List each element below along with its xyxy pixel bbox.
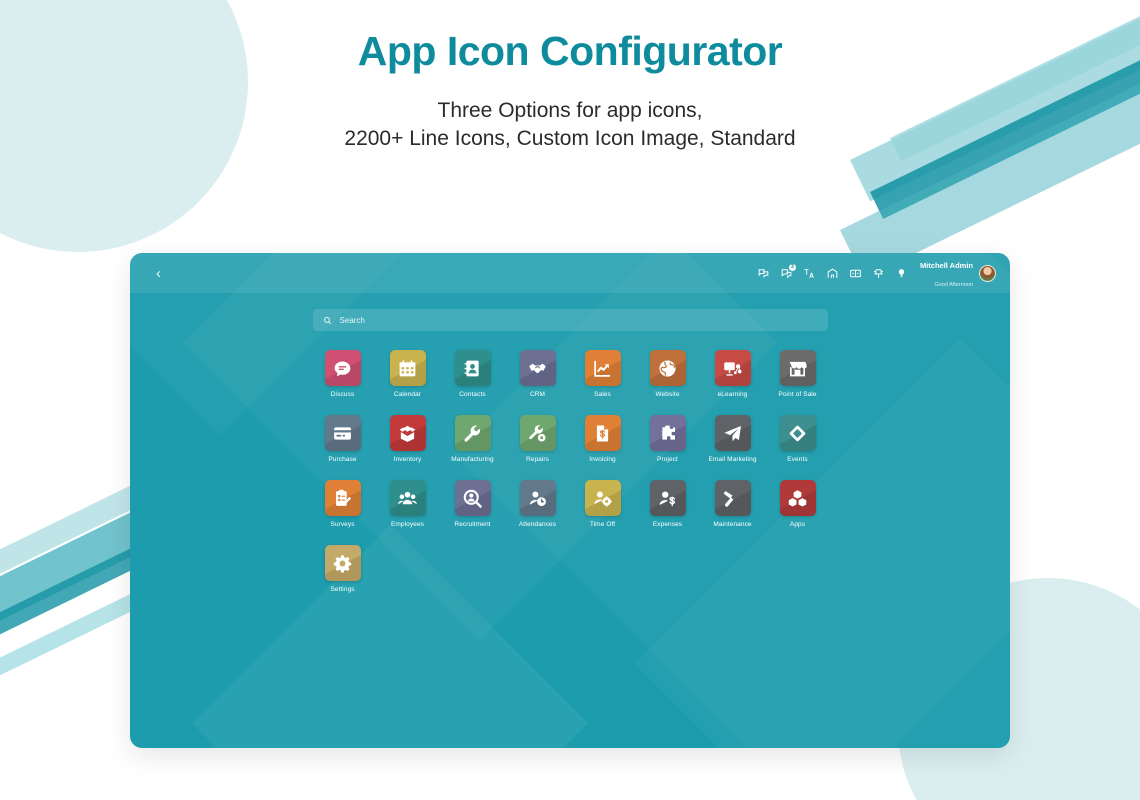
app-label: Recruitment: [454, 521, 490, 528]
back-button[interactable]: ‹: [156, 266, 161, 281]
app-item-attendances[interactable]: Attendances: [505, 480, 570, 528]
app-item-invoicing[interactable]: Invoicing: [570, 415, 635, 463]
app-item-sales[interactable]: Sales: [570, 350, 635, 398]
open-box-icon: [397, 423, 418, 444]
app-item-time-off[interactable]: Time Off: [570, 480, 635, 528]
credit-card-icon: [332, 423, 353, 444]
search-placeholder: Search: [340, 316, 365, 325]
app-item-website[interactable]: Website: [635, 350, 700, 398]
app-label: Calendar: [394, 391, 421, 398]
app-label: Settings: [330, 586, 354, 593]
app-label: eLearning: [718, 391, 748, 398]
handshake-icon: [527, 358, 548, 379]
app-grid: DiscussCalendarContactsCRMSalesWebsiteeL…: [310, 350, 830, 593]
app-item-expenses[interactable]: Expenses: [635, 480, 700, 528]
app-label: Repairs: [526, 456, 549, 463]
app-item-manufacturing[interactable]: Manufacturing: [440, 415, 505, 463]
activities-icon[interactable]: 3: [780, 267, 793, 280]
app-item-contacts[interactable]: Contacts: [440, 350, 505, 398]
app-item-calendar[interactable]: Calendar: [375, 350, 440, 398]
page-subtitle-line-2: 2200+ Line Icons, Custom Icon Image, Sta…: [0, 125, 1140, 153]
app-window: ‹ 3: [130, 253, 1010, 748]
app-tile[interactable]: [520, 350, 556, 386]
app-tile[interactable]: [390, 415, 426, 451]
app-tile[interactable]: [325, 480, 361, 516]
app-tile[interactable]: [520, 415, 556, 451]
app-item-events[interactable]: Events: [765, 415, 830, 463]
app-label: Time Off: [590, 521, 615, 528]
app-item-project[interactable]: Project: [635, 415, 700, 463]
page-subtitle-line-1: Three Options for app icons,: [0, 97, 1140, 125]
app-label: Discuss: [331, 391, 354, 398]
app-tile[interactable]: [325, 415, 361, 451]
tips-icon[interactable]: [895, 267, 908, 280]
app-item-settings[interactable]: Settings: [310, 545, 375, 593]
user-text: Mitchell Admin Good Afternoon: [920, 255, 973, 292]
apps-grid-icon[interactable]: [849, 267, 862, 280]
contact-card-icon: [462, 358, 483, 379]
app-tile[interactable]: [455, 415, 491, 451]
app-label: Project: [657, 456, 678, 463]
person-clock-icon: [527, 488, 548, 509]
app-item-elearning[interactable]: eLearning: [700, 350, 765, 398]
app-label: Contacts: [459, 391, 485, 398]
app-label: Surveys: [330, 521, 354, 528]
app-label: Email Marketing: [708, 456, 756, 463]
app-label: Inventory: [394, 456, 422, 463]
app-item-repairs[interactable]: Repairs: [505, 415, 570, 463]
user-name: Mitchell Admin: [920, 261, 973, 270]
puzzle-icon: [657, 423, 678, 444]
systray: 3: [757, 267, 908, 280]
app-label: CRM: [530, 391, 545, 398]
messages-icon[interactable]: [757, 267, 770, 280]
app-tile[interactable]: [455, 480, 491, 516]
app-item-maintenance[interactable]: Maintenance: [700, 480, 765, 528]
app-grid-wrap: DiscussCalendarContactsCRMSalesWebsiteeL…: [130, 331, 1010, 593]
app-label: Apps: [790, 521, 805, 528]
search-row: Search: [130, 293, 1010, 331]
wrench-gear-icon: [527, 423, 548, 444]
app-tile[interactable]: [390, 350, 426, 386]
app-item-email-marketing[interactable]: Email Marketing: [700, 415, 765, 463]
app-label: Manufacturing: [451, 456, 494, 463]
app-label: Sales: [594, 391, 611, 398]
app-label: Attendances: [519, 521, 556, 528]
app-item-crm[interactable]: CRM: [505, 350, 570, 398]
user-menu[interactable]: Mitchell Admin Good Afternoon: [920, 255, 996, 292]
app-label: Website: [655, 391, 679, 398]
app-tile[interactable]: [715, 480, 751, 516]
app-item-employees[interactable]: Employees: [375, 480, 440, 528]
app-label: Maintenance: [713, 521, 751, 528]
user-greeting: Good Afternoon: [934, 282, 973, 288]
app-label: Invoicing: [589, 456, 616, 463]
cubes-icon: [787, 488, 808, 509]
app-item-discuss[interactable]: Discuss: [310, 350, 375, 398]
invoice-dollar-icon: [592, 423, 613, 444]
headline-block: App Icon Configurator Three Options for …: [0, 28, 1140, 153]
app-tile[interactable]: [780, 350, 816, 386]
person-gear-icon: [592, 488, 613, 509]
app-item-point-of-sale[interactable]: Point of Sale: [765, 350, 830, 398]
page-subtitle: Three Options for app icons, 2200+ Line …: [0, 97, 1140, 153]
page-title: App Icon Configurator: [0, 28, 1140, 75]
company-icon[interactable]: [826, 267, 839, 280]
search-icon: [323, 316, 332, 325]
chart-up-icon: [592, 358, 613, 379]
app-tile[interactable]: [715, 415, 751, 451]
clipboard-pen-icon: [332, 488, 353, 509]
activities-badge: 3: [789, 264, 796, 271]
app-label: Employees: [391, 521, 424, 528]
app-label: Point of Sale: [778, 391, 816, 398]
app-tile[interactable]: [650, 350, 686, 386]
gear-icon: [332, 553, 353, 574]
app-label: Events: [787, 456, 807, 463]
app-item-purchase[interactable]: Purchase: [310, 415, 375, 463]
app-item-apps[interactable]: Apps: [765, 480, 830, 528]
hammer-icon: [722, 488, 743, 509]
app-item-recruitment[interactable]: Recruitment: [440, 480, 505, 528]
app-tile[interactable]: [715, 350, 751, 386]
ticket-diamond-icon: [787, 423, 808, 444]
window-topbar: ‹ 3: [130, 253, 1010, 293]
app-item-surveys[interactable]: Surveys: [310, 480, 375, 528]
search-input[interactable]: Search: [313, 309, 828, 331]
presentation-icon: [722, 358, 743, 379]
chat-bubble-icon: [332, 358, 353, 379]
app-tile[interactable]: [325, 545, 361, 581]
app-tile[interactable]: [520, 480, 556, 516]
storefront-icon: [787, 358, 808, 379]
globe-icon: [657, 358, 678, 379]
app-tile[interactable]: [585, 480, 621, 516]
app-tile[interactable]: [455, 350, 491, 386]
avatar[interactable]: [979, 265, 996, 282]
app-label: Purchase: [328, 456, 356, 463]
app-tile[interactable]: [650, 415, 686, 451]
translate-icon[interactable]: [803, 267, 816, 280]
app-tile[interactable]: [780, 415, 816, 451]
app-tile[interactable]: [585, 350, 621, 386]
debug-icon[interactable]: [872, 267, 885, 280]
app-item-inventory[interactable]: Inventory: [375, 415, 440, 463]
paper-plane-icon: [722, 423, 743, 444]
magnifier-user-icon: [462, 488, 483, 509]
wrench-icon: [462, 423, 483, 444]
app-tile[interactable]: [390, 480, 426, 516]
app-tile[interactable]: [780, 480, 816, 516]
app-tile[interactable]: [650, 480, 686, 516]
app-tile[interactable]: [325, 350, 361, 386]
people-group-icon: [397, 488, 418, 509]
calendar-icon: [397, 358, 418, 379]
person-dollar-icon: [657, 488, 678, 509]
app-tile[interactable]: [585, 415, 621, 451]
app-label: Expenses: [653, 521, 682, 528]
